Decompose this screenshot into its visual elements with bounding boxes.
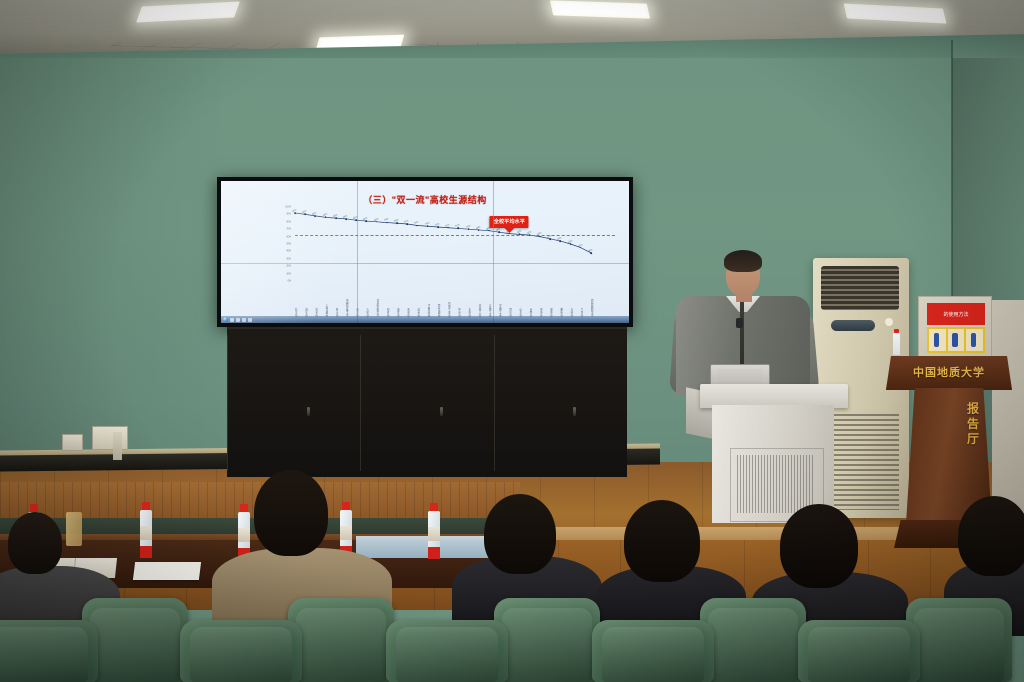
audience-head [8, 512, 62, 574]
auditorium-seat[interactable] [180, 620, 302, 682]
auditorium-seat[interactable] [0, 620, 98, 682]
podium-university-name: 中国地质大学 [886, 364, 1012, 380]
lapel-microphone [736, 318, 743, 328]
paper-sheet [133, 562, 201, 580]
audience-head [484, 494, 556, 574]
water-bottle [893, 333, 900, 355]
auditorium-seat[interactable] [494, 598, 600, 682]
ac-vent-grille [821, 266, 899, 310]
lecture-hall-photo: （三）"双一流"高校生源结构 100%90%80%70%60%50%40%30%… [0, 0, 1024, 682]
poster-figure [966, 329, 983, 351]
cabinet-door[interactable] [360, 335, 495, 471]
video-wall-display[interactable]: （三）"双一流"高校生源结构 100%90%80%70%60%50%40%30%… [217, 177, 633, 327]
poster-headline: 的使用方法 [927, 311, 985, 318]
water-bottle [238, 504, 250, 560]
audience-head [624, 500, 700, 582]
auditorium-seat[interactable] [288, 598, 394, 682]
wall-conduit [113, 432, 122, 460]
presentation-screen[interactable]: （三）"双一流"高校生源结构 100%90%80%70%60%50%40%30%… [221, 181, 629, 323]
cabinet-door[interactable] [494, 335, 628, 471]
poster-headline-band: 的使用方法 [927, 303, 985, 325]
screen-glare [221, 181, 629, 323]
auditorium-seat[interactable] [906, 598, 1012, 682]
tea-cup [66, 512, 82, 546]
cabinet-handle[interactable] [573, 407, 576, 416]
auditorium-seat[interactable] [798, 620, 920, 682]
cabinet-handle[interactable] [307, 407, 310, 416]
ac-knob [885, 318, 893, 326]
poster-illustrations [927, 327, 985, 353]
poster-figure [948, 329, 965, 351]
poster-figure [929, 329, 946, 351]
auditorium-seat[interactable] [700, 598, 806, 682]
auditorium-seat[interactable] [592, 620, 714, 682]
water-bottle [428, 503, 440, 559]
lectern-vents [737, 455, 815, 513]
cabinet-handle[interactable] [440, 407, 443, 416]
wall-socket [62, 434, 83, 451]
audience-head [254, 470, 328, 556]
water-bottle [140, 502, 152, 558]
audience-head [780, 504, 858, 588]
av-cabinet [227, 327, 627, 477]
instruction-poster: 的使用方法 [918, 296, 992, 360]
speaker-hair [724, 250, 762, 272]
audience-head [958, 496, 1024, 576]
cabinet-door[interactable] [227, 335, 361, 471]
auditorium-seat[interactable] [386, 620, 508, 682]
podium-hall-name: 报 告 厅 [918, 402, 981, 445]
ac-brand-badge [831, 320, 875, 331]
wall-panel [92, 426, 128, 450]
